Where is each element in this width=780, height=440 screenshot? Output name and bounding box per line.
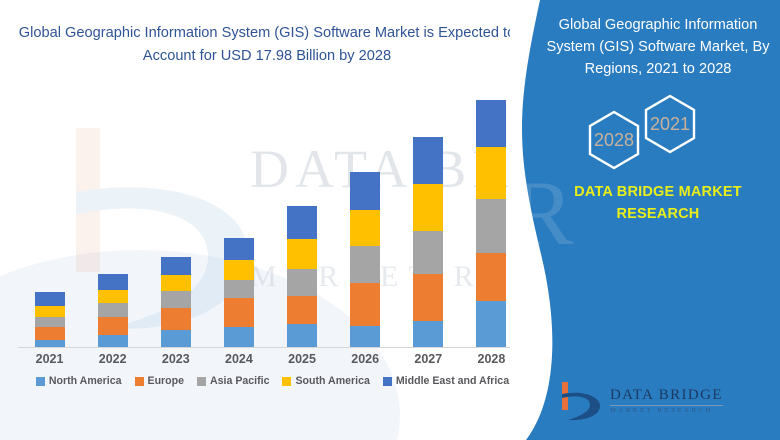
stacked-bar — [224, 238, 254, 347]
year-hexagons-group: 2028 2021 — [546, 92, 770, 178]
legend-swatch-icon — [135, 377, 144, 386]
bar-segment — [287, 269, 317, 296]
bar-segment — [35, 340, 65, 347]
hexagon-2028-icon: 2028 — [590, 112, 638, 168]
bar-segment — [350, 326, 380, 347]
bar-segment — [224, 238, 254, 260]
bar-column — [20, 100, 80, 347]
legend-item[interactable]: North America — [36, 375, 122, 387]
company-logo: DATA BRIDGE MARKET RESEARCH — [556, 378, 771, 424]
infographic-canvas: DATA BRIDGE MARKET RESEARCH Global Geogr… — [0, 0, 780, 440]
x-axis-tick-label: 2021 — [20, 352, 80, 366]
bar-segment — [98, 335, 128, 347]
x-axis-tick-label: 2023 — [146, 352, 206, 366]
bar-segment — [476, 253, 506, 301]
stacked-bar — [161, 257, 191, 347]
bar-column — [146, 100, 206, 347]
bar-segment — [350, 246, 380, 282]
legend-item[interactable]: Europe — [135, 375, 185, 387]
bar-segment — [287, 206, 317, 239]
x-axis-tick-label: 2022 — [83, 352, 143, 366]
x-axis-tick-label: 2026 — [335, 352, 395, 366]
legend-label: Asia Pacific — [210, 375, 269, 387]
bar-segment — [98, 290, 128, 303]
logo-subtitle: MARKET RESEARCH — [610, 408, 723, 415]
x-axis-tick-label: 2027 — [398, 352, 458, 366]
bar-segment — [161, 275, 191, 291]
bar-segment — [98, 303, 128, 316]
legend-swatch-icon — [282, 377, 291, 386]
chart-legend: North AmericaEuropeAsia PacificSouth Ame… — [10, 375, 535, 387]
svg-text:2021: 2021 — [650, 114, 690, 134]
legend-item[interactable]: Asia Pacific — [197, 375, 269, 387]
bar-segment — [287, 324, 317, 347]
brand-line-1: DATA BRIDGE MARKET — [546, 182, 770, 204]
bar-column — [83, 100, 143, 347]
stacked-bar — [98, 274, 128, 347]
legend-item[interactable]: South America — [282, 375, 369, 387]
bar-segment — [476, 199, 506, 253]
bar-segment — [35, 306, 65, 316]
hexagon-2021-icon: 2021 — [646, 96, 694, 152]
logo-title: DATA BRIDGE — [610, 388, 723, 403]
stacked-bar — [476, 100, 506, 347]
bar-segment — [224, 298, 254, 327]
bar-segment — [161, 330, 191, 347]
bar-segment — [224, 280, 254, 299]
bar-segment — [161, 257, 191, 276]
bar-segment — [161, 308, 191, 331]
bar-column — [398, 100, 458, 347]
page-title: Global Geographic Information System (GI… — [8, 22, 526, 67]
bar-segment — [476, 147, 506, 199]
bar-segment — [98, 274, 128, 290]
panel-title: Global Geographic Information System (GI… — [546, 14, 770, 81]
bar-column — [209, 100, 269, 347]
x-axis-line — [18, 347, 523, 348]
legend-swatch-icon — [197, 377, 206, 386]
bar-segment — [224, 260, 254, 280]
chart-bars-container — [18, 100, 523, 347]
legend-label: Europe — [148, 375, 185, 387]
bar-column — [272, 100, 332, 347]
bar-segment — [413, 184, 443, 231]
bar-segment — [413, 321, 443, 347]
bar-segment — [161, 291, 191, 308]
legend-swatch-icon — [36, 377, 45, 386]
bar-segment — [287, 296, 317, 324]
bar-column — [335, 100, 395, 347]
legend-item[interactable]: Middle East and Africa — [383, 375, 509, 387]
bar-segment — [350, 210, 380, 246]
bar-segment — [35, 317, 65, 327]
bar-segment — [413, 231, 443, 275]
bar-segment — [35, 327, 65, 339]
brand-name: DATA BRIDGE MARKET RESEARCH — [546, 182, 770, 226]
bar-segment — [35, 292, 65, 307]
logo-divider — [610, 405, 723, 406]
legend-label: South America — [295, 375, 369, 387]
bar-segment — [413, 274, 443, 321]
x-axis-tick-label: 2024 — [209, 352, 269, 366]
chart-panel: DATA BRIDGE MARKET RESEARCH Global Geogr… — [0, 0, 545, 440]
data-bridge-logo-icon — [556, 380, 604, 422]
x-axis-tick-label: 2025 — [272, 352, 332, 366]
x-axis-labels: 20212022202320242025202620272028 — [18, 352, 523, 366]
legend-label: Middle East and Africa — [396, 375, 509, 387]
brand-panel: R Global Geographic Information System (… — [510, 0, 780, 440]
svg-text:2028: 2028 — [594, 130, 634, 150]
bar-segment — [98, 317, 128, 335]
bar-segment — [350, 172, 380, 210]
logo-text-block: DATA BRIDGE MARKET RESEARCH — [610, 388, 723, 415]
stacked-bar — [350, 172, 380, 347]
bar-segment — [476, 100, 506, 147]
stacked-bar — [287, 206, 317, 347]
stacked-bar — [413, 137, 443, 347]
bar-segment — [476, 301, 506, 347]
bar-segment — [350, 283, 380, 327]
bar-segment — [224, 327, 254, 347]
legend-label: North America — [49, 375, 122, 387]
brand-line-2: RESEARCH — [546, 204, 770, 226]
bar-segment — [287, 239, 317, 269]
bar-segment — [413, 137, 443, 184]
legend-swatch-icon — [383, 377, 392, 386]
stacked-bar — [35, 292, 65, 347]
